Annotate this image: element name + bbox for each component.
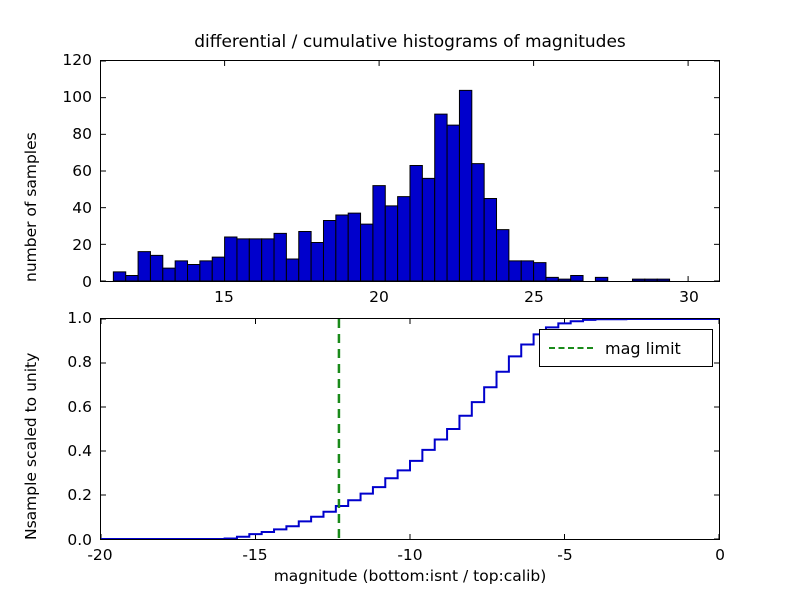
top-panel-y-axis-label: number of samples xyxy=(22,132,40,282)
bottom-xtick-n5: -5 xyxy=(557,546,572,564)
bottom-xtick-n20: -20 xyxy=(87,546,112,564)
top-xtick-20: 20 xyxy=(369,288,389,306)
legend[interactable]: mag limit xyxy=(539,329,713,367)
top-ytick-20: 20 xyxy=(42,236,92,254)
bottom-ytick-02: 0.2 xyxy=(42,486,92,504)
top-ytick-40: 40 xyxy=(42,199,92,217)
bottom-panel-x-axis-label: magnitude (bottom:isnt / top:calib) xyxy=(100,567,720,585)
bottom-ytick-10: 1.0 xyxy=(42,309,92,327)
bottom-ytick-04: 0.4 xyxy=(42,442,92,460)
figure-canvas: differential / cumulative histograms of … xyxy=(0,0,800,600)
legend-label-mag-limit: mag limit xyxy=(605,339,681,358)
differential-histogram-plot xyxy=(101,61,719,281)
bottom-ytick-08: 0.8 xyxy=(42,353,92,371)
legend-dashed-line-icon xyxy=(549,341,593,355)
bottom-ytick-00: 0.0 xyxy=(42,531,92,549)
top-ytick-0: 0 xyxy=(42,273,92,291)
bottom-xtick-n10: -10 xyxy=(397,546,422,564)
bottom-panel-y-axis-label: Nsample scaled to unity xyxy=(22,353,40,540)
bottom-xtick-n15: -15 xyxy=(242,546,267,564)
top-xtick-25: 25 xyxy=(524,288,544,306)
page-title: differential / cumulative histograms of … xyxy=(100,32,720,52)
top-xtick-30: 30 xyxy=(679,288,699,306)
differential-histogram-axes xyxy=(100,60,720,282)
top-ytick-80: 80 xyxy=(42,125,92,143)
top-xtick-15: 15 xyxy=(214,288,234,306)
top-ytick-120: 120 xyxy=(42,51,92,69)
bottom-xtick-0: 0 xyxy=(715,546,725,564)
top-ytick-60: 60 xyxy=(42,162,92,180)
bottom-ytick-06: 0.6 xyxy=(42,398,92,416)
top-ytick-100: 100 xyxy=(42,88,92,106)
